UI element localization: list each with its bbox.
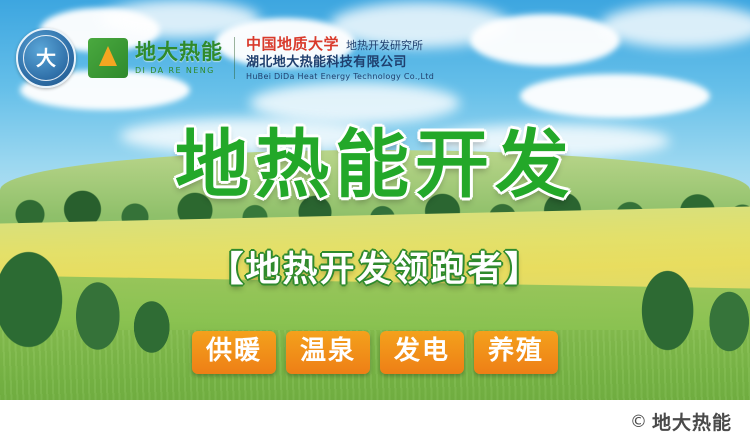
copyright-symbol: © — [630, 412, 648, 432]
cloud-shape — [520, 74, 710, 118]
copyright-notice: © 地大热能 — [630, 408, 732, 435]
header-logo-row: 大 地大热能 DI DA RE NENG 中国地质大学 地热开发研究所 湖北地大… — [16, 28, 434, 88]
organization-block: 中国地质大学 地热开发研究所 湖北地大热能科技有限公司 HuBei DiDa H… — [246, 34, 434, 83]
tag-pill: 供暖 — [192, 331, 276, 374]
brand-block: 地大热能 DI DA RE NENG — [88, 38, 223, 78]
company-name-cn: 湖北地大热能科技有限公司 — [246, 54, 434, 72]
institute-name: 地热开发研究所 — [346, 39, 423, 54]
university-name: 中国地质大学 — [246, 34, 339, 54]
geothermal-promo-banner: 大 地大热能 DI DA RE NENG 中国地质大学 地热开发研究所 湖北地大… — [0, 0, 750, 440]
sub-headline: 【地热开发领跑者】 — [0, 253, 750, 288]
brand-text-group: 地大热能 DI DA RE NENG — [135, 42, 223, 75]
company-name-en: HuBei DiDa Heat Energy Technology Co.,Lt… — [246, 72, 434, 83]
cloud-shape — [470, 14, 620, 66]
flame-shape-icon — [99, 46, 117, 66]
tag-pill-row: 供暖 温泉 发电 养殖 — [0, 331, 750, 374]
tag-pill: 温泉 — [286, 331, 370, 374]
tag-pill: 养殖 — [474, 331, 558, 374]
brand-name-en: DI DA RE NENG — [135, 67, 223, 75]
copyright-text: 地大热能 — [652, 408, 732, 435]
university-seal-icon: 大 — [16, 28, 76, 88]
seal-inner-ring: 大 — [23, 35, 69, 81]
header-divider — [234, 37, 235, 79]
main-headline: 地热能开发 — [0, 128, 750, 202]
seal-mark-label: 大 — [36, 48, 56, 68]
organization-line-1: 中国地质大学 地热开发研究所 — [246, 34, 434, 54]
tag-pill: 发电 — [380, 331, 464, 374]
brand-name-cn: 地大热能 — [135, 42, 223, 63]
flame-logo-icon — [88, 38, 128, 78]
